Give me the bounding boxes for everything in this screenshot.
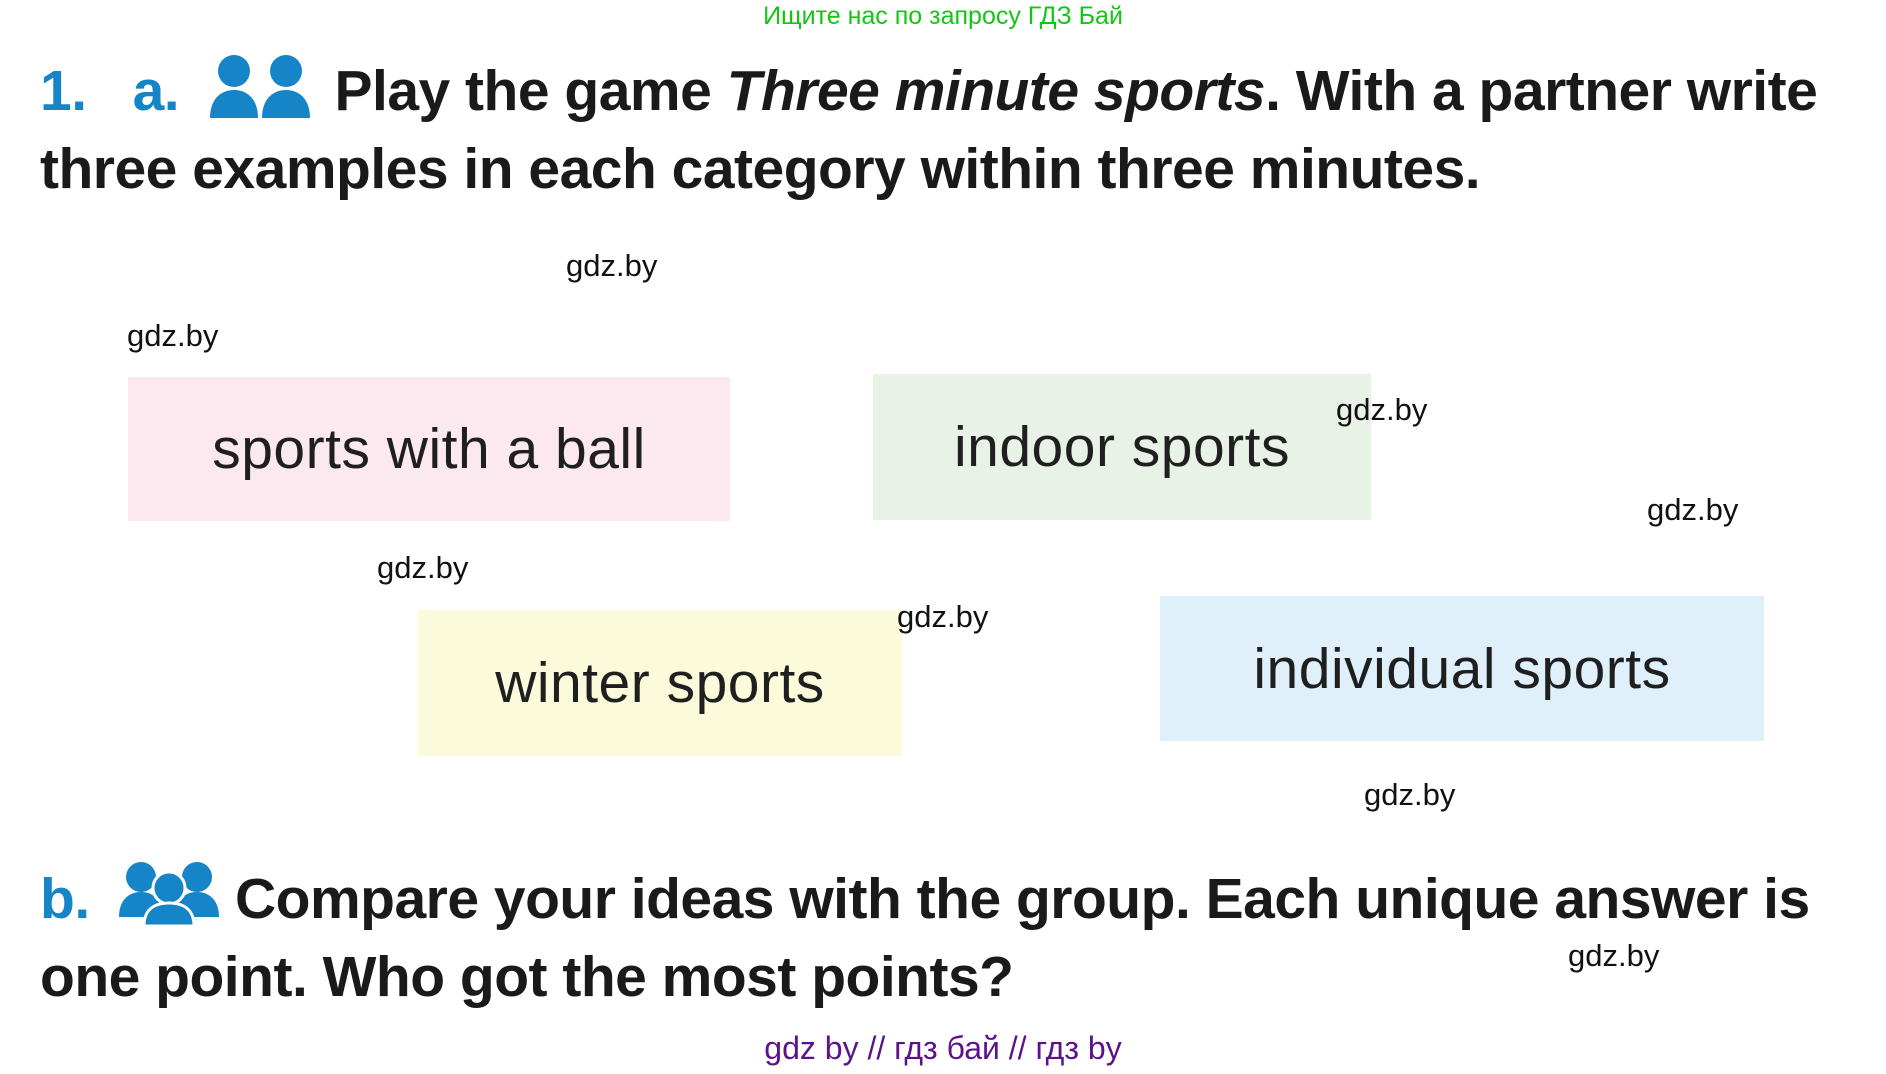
task-a-game-title: Three minute sports	[727, 59, 1265, 123]
watermark-gdz-by: gdz.by	[127, 318, 218, 354]
task-a-text-before: Play the game	[334, 59, 726, 123]
task-letter-b: b.	[40, 867, 90, 931]
task-number: 1.	[40, 59, 87, 123]
category-label: winter sports	[495, 650, 825, 716]
category-box-sports-with-a-ball[interactable]: sports with a ball	[128, 377, 730, 521]
watermark-gdz-by: gdz.by	[566, 248, 657, 284]
watermark-gdz-by: gdz.by	[1336, 392, 1427, 428]
watermark-gdz-by: gdz.by	[1364, 777, 1455, 813]
category-box-individual-sports[interactable]: individual sports	[1160, 596, 1764, 741]
watermark-gdz-by: gdz.by	[377, 550, 468, 586]
textbook-page: Ищите нас по запросу ГДЗ Бай 1. a. Play …	[0, 0, 1886, 1074]
category-box-indoor-sports[interactable]: indoor sports	[873, 374, 1371, 520]
watermark-gdz-by: gdz.by	[1568, 938, 1659, 974]
category-box-winter-sports[interactable]: winter sports	[418, 610, 902, 756]
task-a-heading: 1. a. Play the game Three minute sports.…	[40, 52, 1870, 208]
watermark-gdz-by: gdz.by	[1647, 492, 1738, 528]
task-b-text: Compare your ideas with the group. Each …	[40, 867, 1810, 1009]
category-label: sports with a ball	[212, 416, 646, 482]
promo-banner-text: Ищите нас по запросу ГДЗ Бай	[0, 2, 1886, 31]
footer-watermark-text: gdz by // гдз бай // гдз by	[0, 1030, 1886, 1067]
watermark-gdz-by: gdz.by	[897, 599, 988, 635]
three-people-group-icon	[117, 862, 221, 926]
category-label: individual sports	[1253, 636, 1670, 702]
two-people-icon	[208, 54, 312, 118]
task-letter-a: a.	[133, 59, 180, 123]
category-label: indoor sports	[954, 414, 1290, 480]
